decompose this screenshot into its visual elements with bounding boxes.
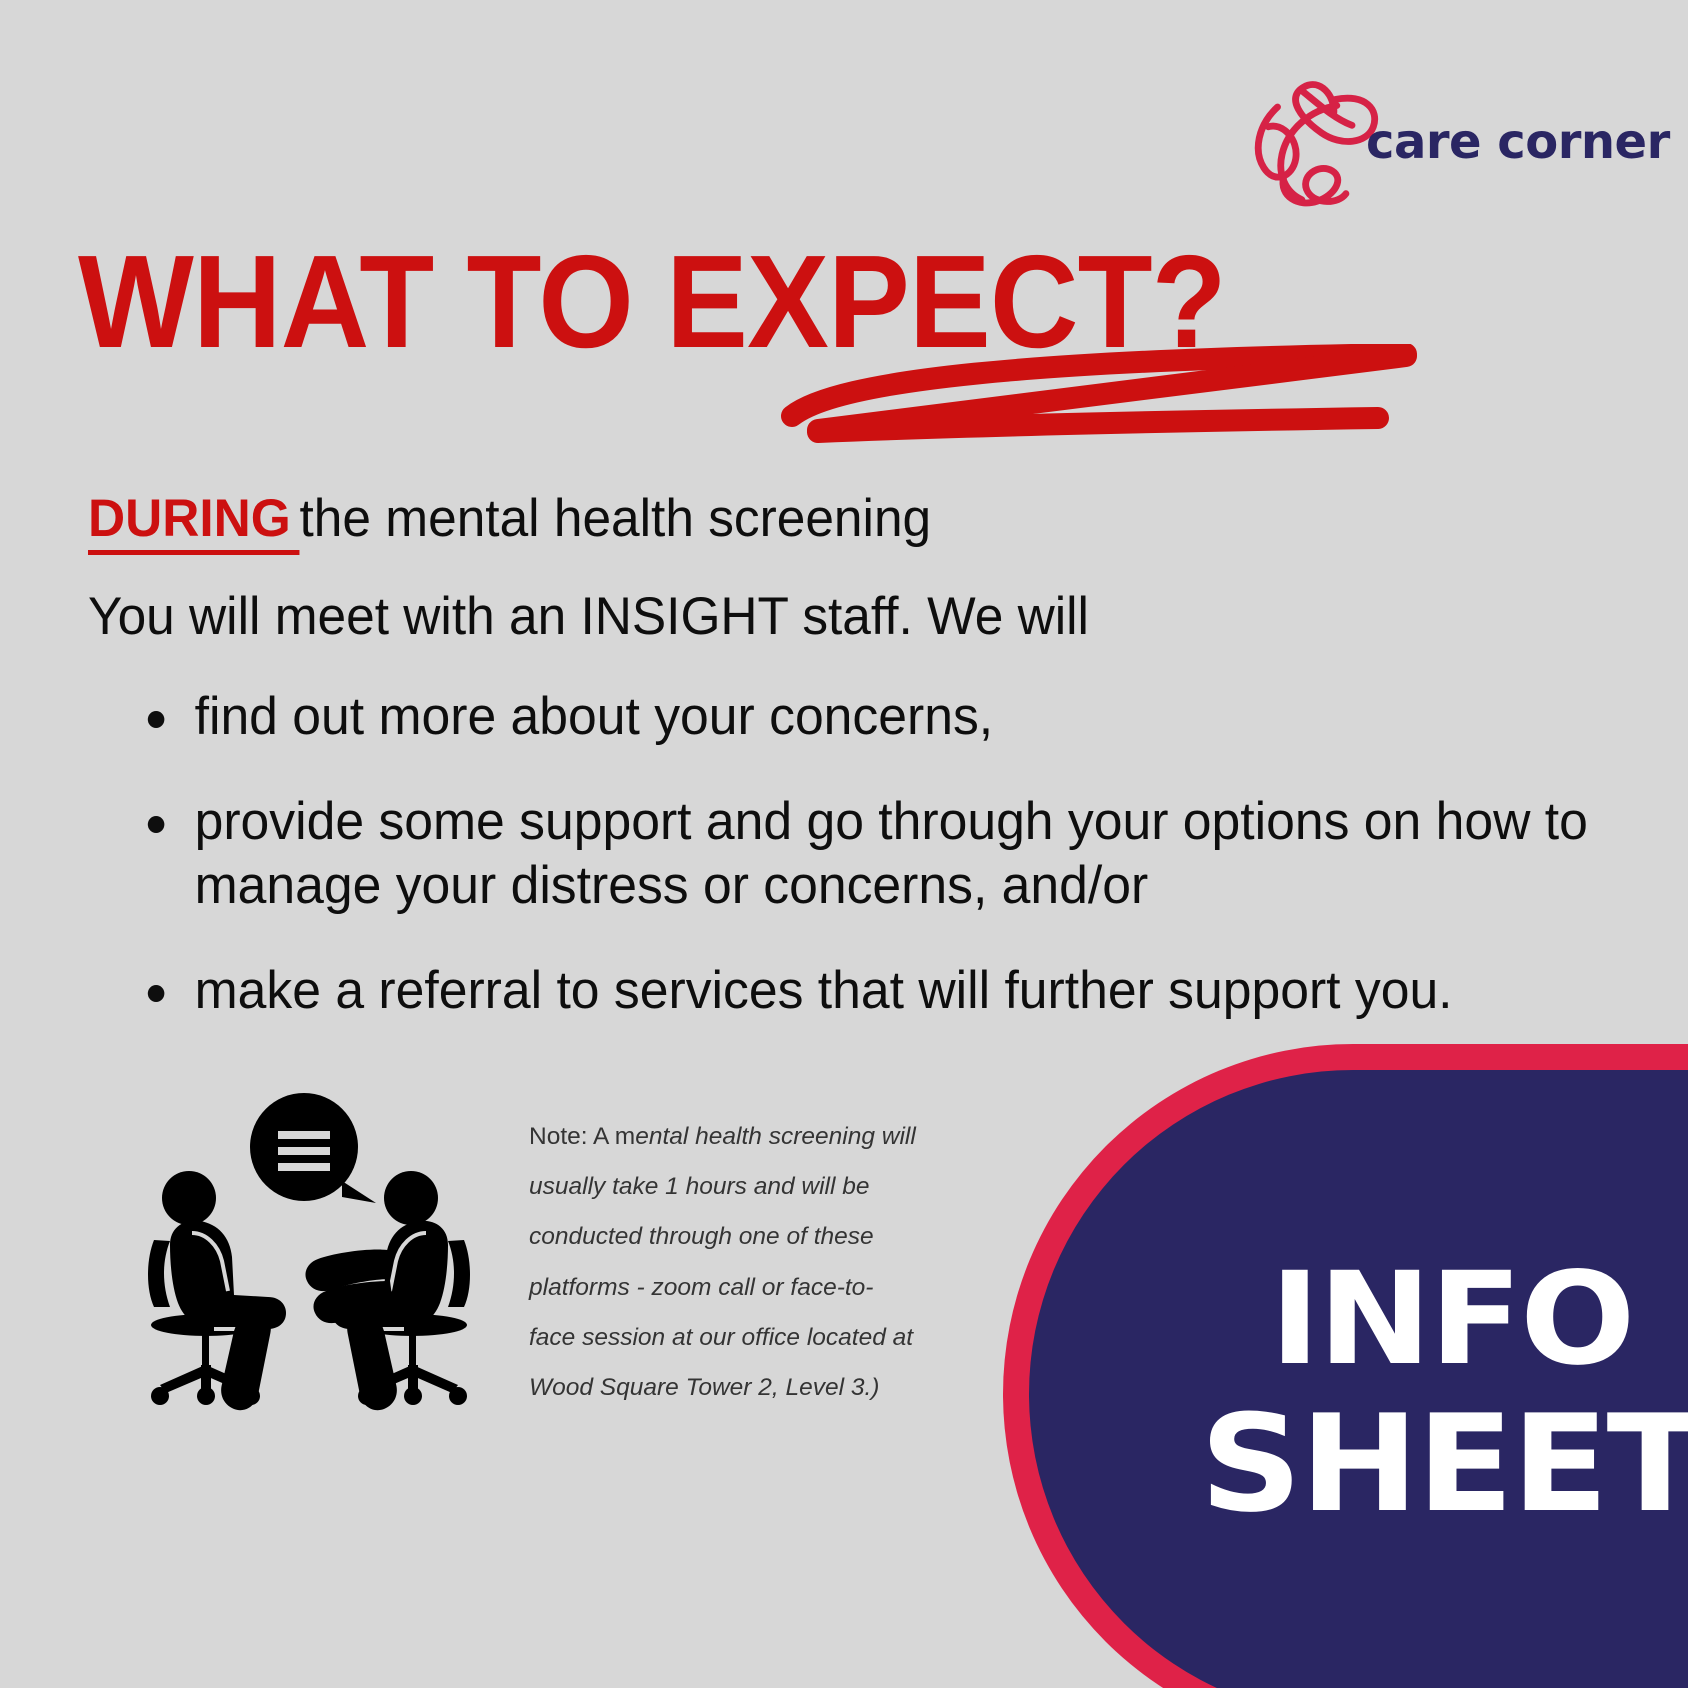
poster-canvas: care corner WHAT TO EXPECT? DURINGthe me… xyxy=(0,0,1688,1688)
note-body: ental health screening will usually take… xyxy=(529,1123,916,1401)
list-item: find out more about your concerns, xyxy=(140,685,1591,750)
note-prefix: Note: A m xyxy=(529,1123,635,1150)
title-block: WHAT TO EXPECT? xyxy=(78,236,1578,368)
badge-line-info: INFO xyxy=(1269,1253,1633,1387)
during-label: DURING xyxy=(88,489,300,555)
list-item: make a referral to services that will fu… xyxy=(140,959,1591,1024)
during-line: DURINGthe mental health screening xyxy=(88,492,1582,545)
intro-line: You will meet with an INSIGHT staff. We … xyxy=(88,590,1582,643)
badge-line-sheet: SHEET xyxy=(1200,1394,1688,1535)
body-copy: DURINGthe mental health screening You wi… xyxy=(88,492,1628,1064)
page-title: WHAT TO EXPECT? xyxy=(78,236,1473,368)
list-item: provide some support and go through your… xyxy=(140,790,1591,919)
care-corner-logo: care corner xyxy=(1232,62,1532,222)
logo-wordmark: care corner xyxy=(1366,114,1670,170)
during-rest: the mental health screening xyxy=(300,489,932,548)
two-people-counseling-session-icon xyxy=(118,1085,500,1415)
speech-bubble-tail xyxy=(342,1181,376,1203)
expectations-list: find out more about your concerns, provi… xyxy=(88,685,1628,1024)
info-sheet-badge-inner: INFO SHEET xyxy=(1029,1070,1688,1688)
info-sheet-badge: INFO SHEET xyxy=(1003,1044,1688,1688)
note-text: Note: A mental health screening will usu… xyxy=(529,1112,919,1413)
